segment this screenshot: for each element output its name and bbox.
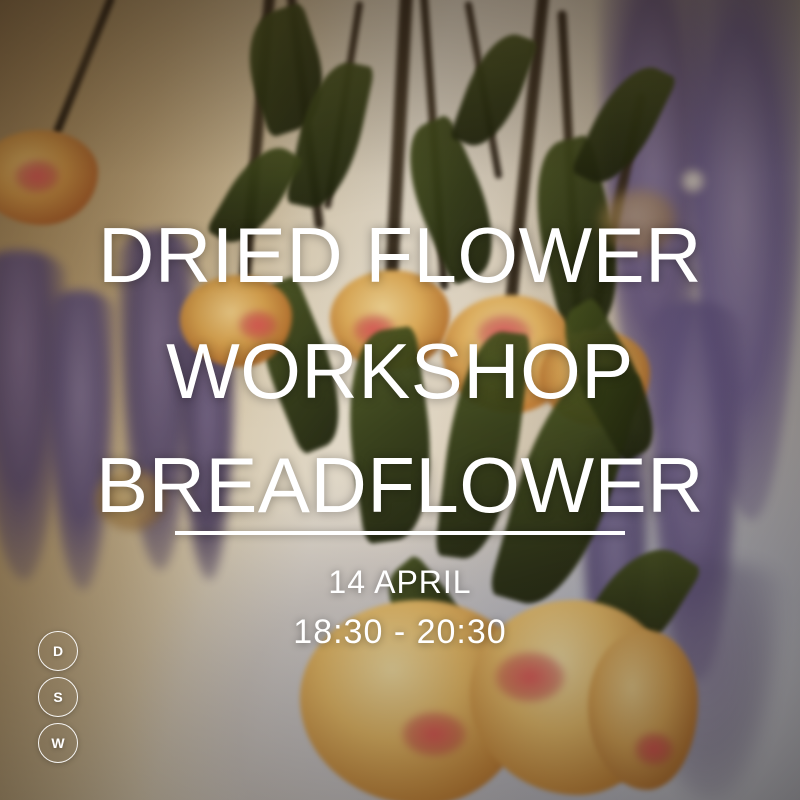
headline-line-1: DRIED FLOWER: [0, 216, 800, 294]
event-poster: DRIED FLOWER WORKSHOP BREADFLOWER 14 APR…: [0, 0, 800, 800]
monogram-badge-d: D: [38, 631, 78, 671]
headline-line-3: BREADFLOWER: [0, 446, 800, 524]
brand-monogram: D S W: [38, 631, 78, 763]
headline-line-2: WORKSHOP: [0, 332, 800, 410]
monogram-badge-w: W: [38, 723, 78, 763]
event-date: 14 APRIL: [0, 566, 800, 598]
divider-rule: [175, 531, 625, 535]
event-time: 18:30 - 20:30: [0, 615, 800, 649]
poster-overlay: DRIED FLOWER WORKSHOP BREADFLOWER 14 APR…: [0, 0, 800, 800]
monogram-badge-s: S: [38, 677, 78, 717]
